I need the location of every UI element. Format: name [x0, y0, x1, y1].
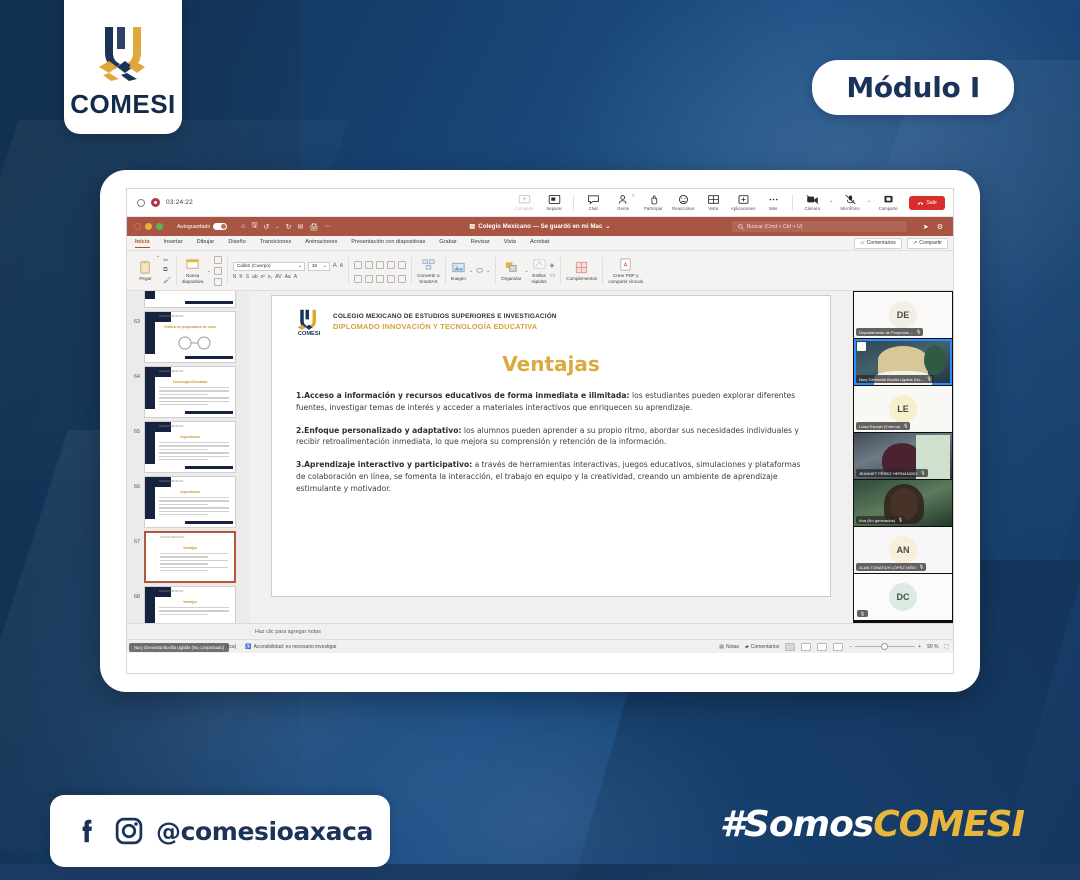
powerpoint-status-bar: Diapositiva 67 de 126 Español (Costa Ric… — [127, 639, 953, 653]
thumb-accent-bar — [185, 521, 233, 524]
accessibility-label: Accesibilidad: es necesario investigar — [254, 644, 337, 650]
mail-icon[interactable]: ✉ — [297, 223, 303, 231]
normal-view-button[interactable] — [785, 643, 795, 651]
meeting-timer: 03:24:22 — [166, 199, 193, 206]
zoom-slider[interactable]: − + — [849, 644, 921, 650]
thumb-text-lines — [160, 553, 228, 573]
thumbnail-preview[interactable]: COLEGIO MEXICANO Importancia — [144, 421, 236, 473]
mic-muted-icon: 🎙 — [857, 610, 868, 617]
stop-recording-icon[interactable] — [137, 199, 145, 207]
autosave-toggle[interactable]: Autoguardado — [177, 223, 227, 230]
ribbon-group-acrobat: A Crear PDF y compartir vínculo — [603, 251, 648, 290]
new-slide-icon — [185, 257, 200, 272]
ribbon-tab-acrobat[interactable]: Acrobat — [530, 239, 549, 247]
cursor-pointer-icon: ➤ — [923, 223, 929, 231]
addins-button[interactable]: Complementos — [566, 260, 597, 281]
zoom-control-camara[interactable]: Cámara — [797, 194, 827, 211]
thumb-header: COLEGIO MEXICANO — [159, 425, 183, 428]
zoom-control-label: Comparte — [879, 206, 898, 211]
ribbon-display-options-icon[interactable]: ⚙ — [937, 223, 943, 231]
shape-fill-icon[interactable]: ◈ — [550, 262, 556, 269]
record-icon[interactable] — [151, 198, 160, 207]
ribbon-group-smartart: Convertir a SmartArt — [412, 251, 444, 290]
comment-icon: ▰ — [745, 644, 749, 650]
hashtag-somos-comesi: #SomosCOMESI — [720, 804, 1024, 845]
increase-font-size-icon[interactable]: A — [333, 263, 337, 269]
mic-muted-icon: 🎙 — [919, 564, 924, 569]
participant-name-text: Luisa Espejel (Externo) — [859, 424, 900, 429]
slide-section-icon[interactable] — [214, 278, 222, 286]
participant-name-text: Departamento de Proyectos ... — [859, 330, 913, 335]
autosave-switch-icon[interactable] — [213, 223, 227, 230]
ribbon-group-font: Calibri (Cuerpo) ⌄ 18 ⌄ A A N K S ab x² — [228, 251, 348, 290]
create-pdf-label-2: compartir vínculo — [608, 279, 643, 284]
thumbnail-preview[interactable]: COLEGIO MEXICANO Gráfica de propiedades … — [144, 311, 236, 363]
ribbon-tab-grabar[interactable]: Grabar — [439, 239, 456, 247]
close-window-icon[interactable] — [134, 223, 141, 230]
zoom-control-comparte[interactable]: Comparte — [873, 194, 903, 211]
thumbnail-item[interactable]: 64 COLEGIO MEXICANO Tecnología Educativa — [127, 363, 249, 418]
toolbar-divider — [792, 195, 793, 211]
thumbnail-title: Ventajas — [146, 546, 234, 550]
new-slide-chevron-down-icon[interactable]: ⌄ — [207, 268, 211, 274]
share-arrow-icon: ↗ — [913, 240, 917, 246]
thumbnail-title: Gráfica de propiedades de color — [145, 325, 235, 329]
thumb-accent-bar — [185, 301, 233, 304]
quick-styles-button[interactable]: Estilos rápidos — [532, 257, 547, 285]
new-slide-label-2: diapositiva — [182, 279, 204, 284]
zoom-slider-track[interactable] — [855, 646, 915, 648]
increase-indent-icon[interactable] — [387, 261, 395, 269]
ribbon-tab-insertar[interactable]: Insertar — [164, 239, 183, 247]
plant-decor — [924, 345, 946, 375]
slide-paragraph-3: 3.Aprendizaje interactivo y participativ… — [296, 459, 806, 494]
avatar: LE — [889, 395, 917, 423]
ribbon-group-paragraph — [349, 251, 411, 290]
leave-meeting-button[interactable]: Salir — [909, 196, 945, 210]
participant-tile[interactable]: LE Luisa Espejel (Externo) 🎙 — [854, 386, 952, 432]
ribbon-tab-inicio[interactable]: Inicio — [135, 239, 150, 247]
avatar: AN — [889, 536, 917, 564]
zoom-controls: Compartir Separar Chat 7 Gente Participa… — [509, 194, 947, 211]
participant-name: ALAN TONATIUH LÓPEZ NIÑO 🎙 — [856, 563, 926, 571]
justify-icon[interactable] — [387, 275, 395, 283]
decrease-indent-icon[interactable] — [376, 261, 384, 269]
slideshow-view-button[interactable] — [833, 643, 843, 651]
zoom-control-mas[interactable]: Más — [758, 194, 788, 211]
italic-icon[interactable]: K — [239, 274, 242, 280]
screenshot-frame: 03:24:22 Compartir Separar Chat 7 Gente — [100, 170, 980, 692]
line-spacing-icon[interactable] — [398, 261, 406, 269]
participant-tile[interactable]: AN ALAN TONATIUH LÓPEZ NIÑO 🎙 — [854, 527, 952, 573]
ribbon-tab-dibujar[interactable]: Dibujar — [197, 239, 215, 247]
addins-label: Complementos — [566, 276, 597, 281]
thumb-text-lines — [159, 607, 229, 617]
comments-button[interactable]: ▱ Comentarios — [854, 238, 901, 249]
paragraph-row-1 — [354, 261, 406, 269]
change-case-icon[interactable]: Aa — [285, 274, 291, 280]
zoom-recording-status: 03:24:22 — [133, 198, 193, 207]
zoom-level-label: 90 % — [927, 644, 938, 650]
font-format-row: N K S ab x² x₂ AV Aa A — [233, 274, 297, 280]
thumbnail-item[interactable]: 63 COLEGIO MEXICANO Gráfica de propiedad… — [127, 308, 249, 363]
ribbon-group-arrange: Organizar ⌄ Estilos rápidos ◈ ▭ — [496, 251, 560, 290]
notes-label: Notas — [726, 644, 739, 650]
thumb-accent-bar — [185, 466, 233, 469]
instagram-icon[interactable] — [114, 816, 144, 846]
character-spacing-icon[interactable]: AV — [275, 274, 281, 280]
font-chevron-down-icon[interactable]: ⌄ — [298, 264, 302, 269]
slide-layout-icon[interactable] — [214, 256, 222, 264]
zoom-control-label: Vista — [708, 206, 718, 211]
slide-paragraph-1: 1.Acceso a información y recursos educat… — [296, 390, 806, 414]
thumb-header: COLEGIO MEXICANO — [159, 315, 183, 318]
comments-toggle-button[interactable]: ▰ Comentarios — [745, 644, 779, 650]
slide-reset-icon[interactable] — [214, 267, 222, 275]
svg-text:A: A — [624, 262, 628, 268]
thumbnail-preview[interactable]: COLEGIO MEXICANO Ventajas — [144, 586, 236, 623]
slide-paragraph-3-bold: 3.Aprendizaje interactivo y participativ… — [296, 460, 472, 469]
zoom-control-label: Chat — [589, 206, 598, 211]
arrange-icon — [504, 260, 519, 275]
undo-chevron-down-icon[interactable]: ⌄ — [275, 224, 279, 230]
slide-header-line1: COLEGIO MEXICANO DE ESTUDIOS SUPERIORES … — [333, 313, 557, 320]
ribbon-tab-animaciones[interactable]: Animaciones — [305, 239, 337, 247]
subscript-icon[interactable]: x₂ — [268, 274, 272, 280]
clipboard-tools: ✂ ⧉ 🖌 — [163, 257, 171, 284]
zoom-control-gente[interactable]: 7 Gente — [608, 194, 638, 211]
shape-format-tools: ◈ ▭ — [550, 262, 556, 279]
zoom-in-icon[interactable]: + — [918, 644, 921, 650]
image-chevron-down-icon[interactable]: ⌄ — [469, 268, 473, 274]
participant-panel[interactable]: DE Departamento de Proyectos ... 🎙 Nury … — [853, 291, 953, 623]
paste-chevron-down-icon[interactable]: ⌄ — [156, 253, 160, 259]
mic-muted-icon: 🎙 — [898, 517, 903, 522]
document-title: ▤ Colegio Mexicano — Se guardó en mi Mac… — [469, 223, 610, 230]
superscript-icon[interactable]: x² — [261, 274, 265, 280]
font-size-value: 18 — [312, 264, 317, 269]
zoom-control-label: Cámara — [804, 206, 820, 211]
align-left-icon[interactable] — [354, 275, 362, 283]
zoom-control-reaccionar[interactable]: Reaccionar — [668, 194, 698, 211]
quick-styles-label-1: Estilos — [532, 273, 546, 278]
zoom-control-separar[interactable]: Separar — [539, 194, 569, 211]
comesi-logo-icon — [91, 23, 155, 85]
reading-view-button[interactable] — [817, 643, 827, 651]
thumbnail-title: Importancia — [145, 435, 235, 439]
mic-muted-icon: 🎙 — [927, 376, 932, 381]
ribbon-group-slides: Nueva diapositiva ⌄ — [177, 251, 227, 290]
convert-to-smartart-button[interactable]: Convertir a SmartArt — [417, 257, 439, 285]
participant-name-text: Nury Glennetta Bonilla Ugalde (No... — [859, 377, 924, 382]
participant-name: JEANNET PÉREZ HERNÁNDEZ 🎙 — [856, 469, 928, 477]
ribbon-tab-presentacion[interactable]: Presentación con diapositivas — [351, 239, 425, 247]
participant-name: Ana (No generados) 🎙 — [856, 516, 905, 524]
autosave-label: Autoguardado — [177, 224, 210, 230]
redo-icon[interactable]: ↻ — [286, 223, 292, 231]
participant-name: Departamento de Proyectos ... 🎙 — [856, 328, 923, 336]
cut-icon[interactable]: ✂ — [163, 257, 171, 264]
zoom-control-label: Gente — [617, 206, 629, 211]
thumb-diagram-icon — [175, 336, 215, 350]
smartart-label-2: SmartArt — [419, 279, 437, 284]
thumb-text-lines — [159, 442, 229, 462]
font-name-value: Calibri (Cuerpo) — [237, 264, 271, 269]
participant-name-text: ALAN TONATIUH LÓPEZ NIÑO — [859, 565, 916, 570]
slide-header-text: COLEGIO MEXICANO DE ESTUDIOS SUPERIORES … — [333, 313, 557, 331]
image-label: Imagen — [451, 276, 466, 281]
participant-tile-active[interactable]: Nury Glennetta Bonilla Ugalde (No... 🎙 — [854, 339, 952, 385]
align-right-icon[interactable] — [376, 275, 384, 283]
print-icon[interactable]: 🖨 — [309, 223, 318, 231]
underline-icon[interactable]: S — [246, 274, 249, 280]
slide-layout-tools — [214, 256, 222, 286]
shape-effects-icon[interactable]: ▭ — [550, 272, 556, 279]
minimize-window-icon[interactable] — [145, 223, 152, 230]
comments-button-label: Comentarios — [866, 240, 895, 246]
copy-icon[interactable]: ⧉ — [163, 267, 171, 274]
bulleted-list-icon[interactable] — [354, 261, 362, 269]
slide-header: COMESI COLEGIO MEXICANO DE ESTUDIOS SUPE… — [294, 308, 814, 336]
share-button[interactable]: ↗ Compartir — [907, 238, 948, 249]
thumb-header: COLEGIO MEXICANO — [159, 480, 183, 483]
camera-chevron-down-icon[interactable]: ⌄ — [827, 198, 835, 204]
ribbon-tab-revisar[interactable]: Revisar — [471, 239, 490, 247]
powerpoint-window: Autoguardado ⌂ 🖫 ↺ ⌄ ↻ ✉ 🖨 ⋯ ▤ Colegio M… — [127, 217, 953, 653]
thumbnail-preview[interactable]: COLEGIO MEXICANO Ventajas — [144, 531, 236, 583]
ribbon-group-clipboard: Pegar ⌄ ✂ ⧉ 🖌 — [133, 251, 176, 290]
save-icon[interactable]: 🖫 — [252, 221, 258, 232]
thumbnail-item[interactable]: 65 COLEGIO MEXICANO Importancia — [127, 418, 249, 473]
thumb-header: COLEGIO MEXICANO — [160, 536, 184, 539]
pdf-icon: A — [618, 257, 633, 272]
home-icon[interactable]: ⌂ — [241, 223, 245, 230]
text-direction-icon[interactable] — [398, 275, 406, 283]
mic-chevron-down-icon[interactable]: ⌄ — [865, 198, 873, 204]
smartart-icon — [421, 257, 436, 272]
slide-paragraph-2: 2.Enfoque personalizado y adaptativo: lo… — [296, 425, 806, 449]
more-dots-icon[interactable]: ⋯ — [324, 223, 330, 230]
ribbon-group-addins: Complementos — [561, 251, 602, 290]
participant-hair — [878, 346, 928, 374]
thumbnail-item[interactable]: 62 — [127, 291, 249, 308]
notes-pane[interactable]: Haz clic para agregar notas — [127, 623, 953, 639]
slide-header-line2: DIPLOMADO INNOVACIÓN Y TECNOLOGÍA EDUCAT… — [333, 322, 557, 331]
new-slide-label-1: Nueva — [186, 273, 199, 278]
strikethrough-icon[interactable]: ab — [252, 274, 258, 280]
zoom-control-compartir[interactable]: Compartir — [509, 194, 539, 211]
social-footer-card: @comesioaxaca — [50, 795, 390, 867]
create-pdf-button[interactable]: A Crear PDF y compartir vínculo — [608, 257, 643, 285]
zoom-control-microfono[interactable]: Micrófono — [835, 194, 865, 211]
zoom-control-aplicaciones[interactable]: Aplicaciones — [728, 194, 758, 211]
paste-label: Pegar — [139, 276, 151, 281]
ribbon-tabs: Inicio Insertar Dibujar Diseño Transicio… — [127, 236, 953, 251]
shapes-icon[interactable]: ⬭ — [476, 266, 483, 276]
notes-icon: ▤ — [719, 644, 724, 650]
paragraph-row-2 — [354, 275, 406, 283]
undo-icon[interactable]: ↺ — [264, 223, 270, 231]
zoom-control-label: Compartir — [515, 206, 534, 211]
thumbnail-item[interactable]: 66 COLEGIO MEXICANO Importancia — [127, 473, 249, 528]
font-size-chevron-down-icon[interactable]: ⌄ — [323, 264, 327, 269]
meeting-screen: 03:24:22 Compartir Separar Chat 7 Gente — [126, 188, 954, 674]
participant-tile[interactable]: JEANNET PÉREZ HERNÁNDEZ 🎙 — [854, 433, 952, 479]
leave-button-label: Salir — [926, 200, 937, 206]
hashtag-white-part: #Somos — [720, 804, 873, 845]
font-size-select[interactable]: 18 ⌄ — [308, 262, 330, 271]
avatar: DE — [889, 301, 917, 329]
create-pdf-label-1: Crear PDF y — [613, 273, 639, 278]
comments-label: Comentarios — [751, 644, 779, 650]
bold-icon[interactable]: N — [233, 274, 237, 280]
participant-tile[interactable]: Ana (No generados) 🎙 — [854, 480, 952, 526]
comesi-logo-card: COMESI — [64, 0, 182, 134]
thumb-accent-side — [145, 291, 155, 299]
format-painter-icon[interactable]: 🖌 — [163, 277, 171, 284]
zoom-control-chat[interactable]: Chat — [578, 194, 608, 211]
thumb-accent-bar — [185, 411, 233, 414]
hashtag-gold-part: COMESI — [873, 804, 1024, 845]
thumbnail-number: 63 — [130, 311, 140, 325]
new-slide-button[interactable]: Nueva diapositiva — [182, 257, 204, 285]
zoom-control-vista[interactable]: Vista — [698, 194, 728, 211]
organize-label: Organizar — [501, 276, 521, 281]
ribbon-toolbar: Pegar ⌄ ✂ ⧉ 🖌 Nueva diapositiva ⌄ — [127, 251, 953, 291]
numbered-list-icon[interactable] — [365, 261, 373, 269]
comment-bubble-icon: ▱ — [860, 240, 864, 246]
font-name-select[interactable]: Calibri (Cuerpo) ⌄ — [233, 262, 305, 271]
thumb-text-lines — [159, 387, 229, 407]
slide-thumbnail-panel[interactable]: 62 63 COLEGIO MEXICANO Gráfica de propie… — [127, 291, 249, 623]
slide-title: Ventajas — [288, 352, 814, 376]
zoom-control-participar[interactable]: Participar — [638, 194, 668, 211]
organize-chevron-down-icon[interactable]: ⌄ — [524, 268, 528, 274]
zoom-out-icon[interactable]: − — [849, 644, 852, 650]
participant-tile[interactable]: DC 🎙 — [854, 574, 952, 620]
zoom-slider-knob[interactable] — [881, 643, 888, 650]
zoom-control-label: Más — [769, 206, 777, 211]
slide-comesi-logo-icon: COMESI — [294, 308, 324, 336]
module-badge-label: Módulo I — [846, 71, 980, 104]
document-title-chevron-icon[interactable]: ⌄ — [605, 223, 610, 230]
participant-count-badge: 7 — [632, 193, 634, 198]
quick-access-toolbar: ⌂ 🖫 ↺ ⌄ ↻ ✉ 🖨 ⋯ — [241, 221, 330, 232]
image-icon — [451, 260, 466, 275]
current-slide[interactable]: COMESI COLEGIO MEXICANO DE ESTUDIOS SUPE… — [271, 295, 831, 597]
thumbnail-preview[interactable]: COLEGIO MEXICANO Importancia — [144, 476, 236, 528]
thumb-accent-bar — [185, 356, 233, 359]
facebook-icon[interactable] — [72, 816, 102, 846]
smartart-label-1: Convertir a — [417, 273, 439, 278]
powerpoint-search-box[interactable]: Buscar (Cmd + Ctrl + U) — [732, 221, 907, 232]
thumb-header: COLEGIO MEXICANO — [159, 370, 183, 373]
window-traffic-lights[interactable] — [134, 223, 163, 230]
ribbon-tab-transiciones[interactable]: Transiciones — [260, 239, 292, 247]
search-placeholder: Buscar (Cmd + Ctrl + U) — [747, 224, 803, 230]
comesi-logo-text: COMESI — [70, 89, 176, 120]
zoom-toolbar: 03:24:22 Compartir Separar Chat 7 Gente — [127, 189, 953, 217]
document-title-text: Colegio Mexicano — Se guardó en mi Mac — [478, 223, 602, 230]
mic-muted-icon: 🎙 — [916, 329, 921, 334]
participant-tile[interactable]: DE Departamento de Proyectos ... 🎙 — [854, 292, 952, 338]
virtual-background-logo-icon — [857, 342, 866, 351]
thumb-text-lines — [159, 497, 229, 517]
thumbnail-item-selected[interactable]: 67 COLEGIO MEXICANO Ventajas — [127, 528, 249, 583]
accessibility-status[interactable]: ♿ Accesibilidad: es necesario investigar — [245, 644, 336, 650]
ribbon-tab-vista[interactable]: Vista — [504, 239, 516, 247]
notes-placeholder: Haz clic para agregar notas — [255, 629, 321, 635]
module-badge: Módulo I — [812, 60, 1014, 115]
thumbnail-title: Tecnología Educativa — [145, 380, 235, 384]
titlebar-right-icons: ➤ ⚙ — [923, 223, 943, 231]
speaker-toast: Nury Glennetta Bonilla Ugalde (No compro… — [129, 643, 229, 652]
mic-muted-icon: 🎙 — [903, 423, 908, 428]
slide-body[interactable]: 1.Acceso a información y recursos educat… — [288, 390, 814, 494]
zoom-control-label: Reaccionar — [672, 206, 694, 211]
maximize-window-icon[interactable] — [156, 223, 163, 230]
fit-slide-icon[interactable]: ⛶ — [944, 644, 948, 650]
powerpoint-body: 62 63 COLEGIO MEXICANO Gráfica de propie… — [127, 291, 953, 623]
slide-editing-area[interactable]: COMESI COLEGIO MEXICANO DE ESTUDIOS SUPE… — [249, 291, 853, 623]
align-center-icon[interactable] — [365, 275, 373, 283]
zoom-control-label: Participar — [644, 206, 663, 211]
toolbar-divider — [573, 195, 574, 211]
slide-paragraph-1-bold: 1.Acceso a información y recursos educat… — [296, 391, 630, 400]
powerpoint-titlebar: Autoguardado ⌂ 🖫 ↺ ⌄ ↻ ✉ 🖨 ⋯ ▤ Colegio M… — [127, 217, 953, 236]
thumbnail-preview[interactable]: COLEGIO MEXICANO Tecnología Educativa — [144, 366, 236, 418]
participant-name-text: Ana (No generados) — [859, 518, 895, 523]
decrease-font-size-icon[interactable]: A — [340, 263, 343, 269]
slide-sorter-view-button[interactable] — [801, 643, 811, 651]
thumbnail-preview[interactable] — [144, 291, 236, 308]
thumbnail-item[interactable]: 68 COLEGIO MEXICANO Ventajas — [127, 583, 249, 623]
search-icon — [738, 224, 744, 230]
accessibility-icon: ♿ — [245, 644, 251, 650]
svg-text:COMESI: COMESI — [298, 331, 321, 336]
thumbnail-number: 65 — [130, 421, 140, 435]
ribbon-tab-diseno[interactable]: Diseño — [228, 239, 245, 247]
paste-icon — [138, 260, 153, 275]
participant-name-text: JEANNET PÉREZ HERNÁNDEZ — [859, 471, 918, 476]
zoom-control-label: Separar — [546, 206, 562, 211]
thumbnail-number: 68 — [130, 586, 140, 600]
share-button-label: Compartir — [919, 240, 942, 246]
mic-muted-icon: 🎙 — [921, 470, 926, 475]
zoom-control-label: Aplicaciones — [731, 206, 756, 211]
organize-button[interactable]: Organizar — [501, 260, 521, 281]
ribbon-tabs-right: ▱ Comentarios ↗ Compartir — [854, 238, 953, 249]
thumbnail-number: 64 — [130, 366, 140, 380]
quick-styles-label-2: rápidos — [532, 279, 547, 284]
phone-hangup-icon — [917, 200, 924, 206]
image-button[interactable]: Imagen — [451, 260, 466, 281]
participant-name: Luisa Espejel (Externo) 🎙 — [856, 422, 910, 430]
thumbnail-number: 66 — [130, 476, 140, 490]
thumbnail-number: 67 — [130, 531, 140, 545]
ribbon-group-image: Imagen ⌄ ⬭ ⌄ — [446, 251, 496, 290]
zoom-control-label: Micrófono — [841, 206, 860, 211]
shapes-chevron-down-icon[interactable]: ⌄ — [486, 268, 490, 274]
addins-icon — [574, 260, 589, 275]
participant-name: Nury Glennetta Bonilla Ugalde (No... 🎙 — [856, 375, 934, 383]
notes-toggle-button[interactable]: ▤ Notas — [719, 644, 739, 650]
thumb-header: COLEGIO MEXICANO — [159, 590, 183, 593]
paste-button[interactable]: Pegar — [138, 260, 153, 281]
font-color-icon[interactable]: A — [294, 274, 297, 280]
thumbnail-title: Ventajas — [145, 600, 235, 604]
quick-styles-icon — [532, 257, 547, 272]
